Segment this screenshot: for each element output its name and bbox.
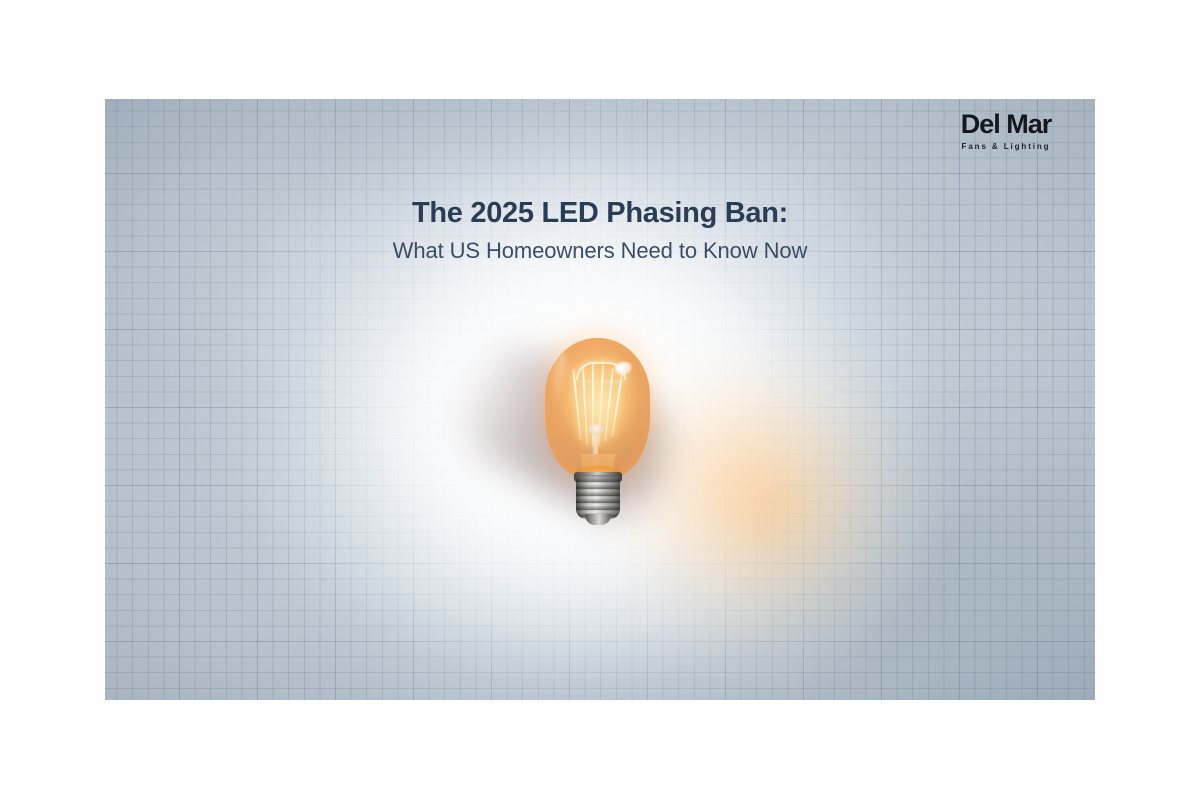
hero-banner-image: The 2025 LED Phasing Ban: What US Homeow… — [105, 99, 1095, 700]
bulb-filament-cluster — [572, 364, 624, 450]
warm-light-spill — [645, 329, 975, 629]
headline-subtitle: What US Homeowners Need to Know Now — [105, 237, 1095, 266]
light-bulb-icon — [545, 338, 655, 518]
page-canvas: The 2025 LED Phasing Ban: What US Homeow… — [0, 0, 1200, 800]
brand-name: Del Mar — [931, 111, 1081, 138]
headline-block: The 2025 LED Phasing Ban: What US Homeow… — [105, 195, 1095, 266]
bulb-screw-base — [576, 475, 620, 519]
filament-strand — [611, 373, 624, 438]
headline-title: The 2025 LED Phasing Ban: — [105, 195, 1095, 231]
brand-logo: Del Mar Fans & Lighting — [931, 111, 1081, 151]
bulb-stem-knob — [588, 424, 604, 435]
brand-tagline: Fans & Lighting — [931, 143, 1081, 151]
